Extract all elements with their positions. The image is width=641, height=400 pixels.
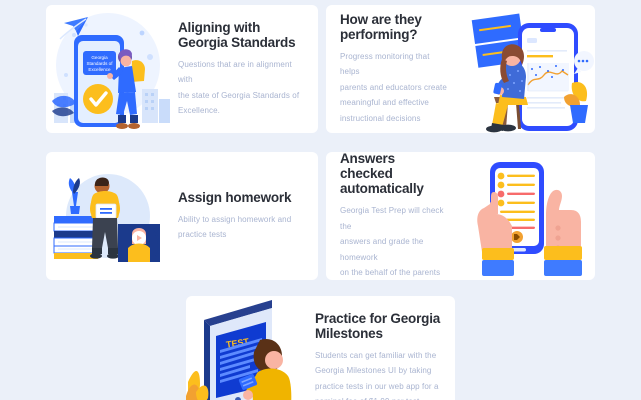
card-copy: Assign homework Ability to assign homewo… bbox=[174, 190, 318, 243]
feature-card-answers-checked-automatically[interactable]: Answers checked automatically Georgia Te… bbox=[326, 152, 595, 280]
svg-text:Georgia: Georgia bbox=[91, 55, 108, 60]
feature-card-practice-for-georgia-milestones[interactable]: TEST bbox=[186, 296, 455, 400]
feature-card-how-are-they-performing[interactable]: How are they performing? Progress monito… bbox=[326, 5, 595, 133]
feature-card-assign-homework[interactable]: Assign homework Ability to assign homewo… bbox=[46, 152, 318, 280]
card-body: Progress monitoring that helps parents a… bbox=[340, 49, 450, 127]
card-body: Students can get familiar with the Georg… bbox=[315, 348, 445, 400]
illustration-woman-phone-analytics-chart bbox=[460, 5, 595, 133]
card-body: Ability to assign homework and practice … bbox=[178, 212, 308, 243]
card-title: Answers checked automatically bbox=[340, 152, 450, 196]
illustration-teacher-books-video-laptop bbox=[46, 152, 174, 280]
card-title: Practice for Georgia Milestones bbox=[315, 311, 445, 341]
features-grid-page: Georgia Standards of Excellence bbox=[0, 0, 641, 400]
card-copy: Practice for Georgia Milestones Students… bbox=[311, 311, 455, 400]
illustration-hands-phone-checklist-thumbsup bbox=[460, 152, 595, 280]
card-title: Aligning with Georgia Standards bbox=[178, 20, 308, 50]
svg-text:Excellence: Excellence bbox=[88, 67, 111, 72]
card-title: How are they performing? bbox=[340, 12, 450, 42]
card-body: Georgia Test Prep will check the answers… bbox=[340, 203, 450, 280]
illustration-phone-standards-checkmark: Georgia Standards of Excellence bbox=[46, 5, 174, 133]
card-copy: How are they performing? Progress monito… bbox=[326, 12, 460, 127]
illustration-boy-tablet-test-screen: TEST bbox=[186, 296, 311, 400]
card-title: Assign homework bbox=[178, 190, 308, 205]
card-copy: Aligning with Georgia Standards Question… bbox=[174, 20, 318, 119]
card-copy: Answers checked automatically Georgia Te… bbox=[326, 152, 460, 280]
card-body: Questions that are in alignment with the… bbox=[178, 57, 308, 119]
feature-card-aligning-with-georgia-standards[interactable]: Georgia Standards of Excellence bbox=[46, 5, 318, 133]
svg-text:Standards of: Standards of bbox=[86, 61, 113, 66]
